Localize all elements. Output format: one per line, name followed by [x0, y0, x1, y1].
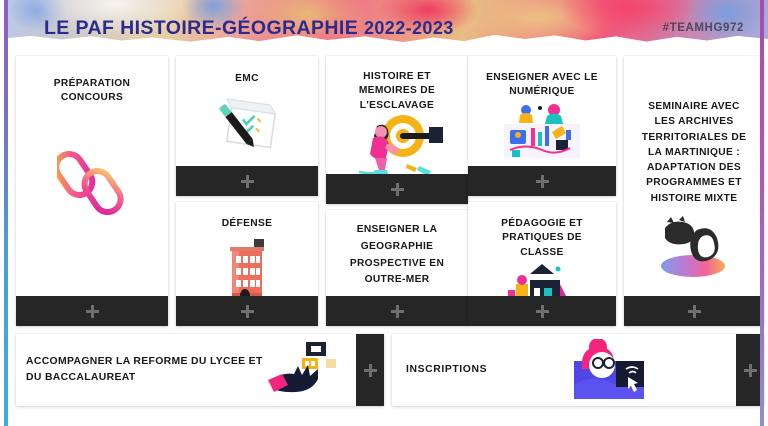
plus-icon [241, 175, 254, 188]
plus-icon [241, 305, 254, 318]
card-preparation-concours[interactable]: PRÉPARATION CONCOURS [16, 56, 168, 326]
poster-page: LE PAF HISTOIRE-GÉOGRAPHIE 2022-2023 #TE… [0, 0, 768, 426]
card-body: DÉFENSE [176, 202, 318, 296]
card-body: SEMINAIRE AVEC LES ARCHIVES TERRITORIALE… [624, 56, 764, 296]
hand-screens-icon [264, 340, 346, 400]
card-accompagner-reforme-lycee[interactable]: ACCOMPAGNER LA REFORME DU LYCEE ET DU BA… [16, 334, 384, 406]
cards-board: PRÉPARATION CONCOURS [8, 52, 768, 426]
card-add-button[interactable] [176, 166, 318, 196]
card-title: HISTOIRE ET MEMOIRES DE L'ESCLAVAGE [334, 65, 460, 113]
card-add-button[interactable] [326, 296, 468, 326]
plus-icon [688, 305, 701, 318]
card-title: SEMINAIRE AVEC LES ARCHIVES TERRITORIALE… [632, 65, 756, 206]
card-add-button[interactable] [16, 296, 168, 326]
plus-icon [364, 364, 377, 377]
page-title-years: 2022-2023 [364, 18, 454, 38]
card-add-button[interactable] [624, 296, 764, 326]
card-body: ENSEIGNER AVEC LE NUMÉRIQUE [468, 56, 616, 166]
card-inscriptions[interactable]: INSCRIPTIONS [392, 334, 764, 406]
card-pedagogie-pratiques-classe[interactable]: PÉDAGOGIE ET PRATIQUES DE CLASSE [468, 202, 616, 326]
card-add-button[interactable] [468, 166, 616, 196]
card-add-button[interactable] [356, 334, 384, 406]
plus-icon [744, 364, 757, 377]
card-add-button[interactable] [468, 296, 616, 326]
card-enseigner-avec-le-numerique[interactable]: ENSEIGNER AVEC LE NUMÉRIQUE [468, 56, 616, 196]
building-icon [216, 235, 278, 296]
card-body: PRÉPARATION CONCOURS [16, 56, 168, 296]
hashtag-label: #TEAMHG972 [663, 22, 744, 34]
plus-icon [536, 305, 549, 318]
card-title: INSCRIPTIONS [406, 362, 487, 378]
card-emc[interactable]: EMC [176, 56, 318, 196]
card-defense[interactable]: DÉFENSE [176, 202, 318, 326]
plus-icon [391, 305, 404, 318]
chain-links-icon [57, 140, 127, 226]
card-add-button[interactable] [176, 296, 318, 326]
card-body: INSCRIPTIONS [392, 334, 736, 406]
card-title: ACCOMPAGNER LA REFORME DU LYCEE ET DU BA… [26, 354, 264, 385]
card-enseigner-geographie-prospective[interactable]: ENSEIGNER LA GEOGRAPHIE PROSPECTIVE EN O… [326, 210, 468, 326]
archive-silhouette-icon [651, 216, 737, 280]
card-body: ENSEIGNER LA GEOGRAPHIE PROSPECTIVE EN O… [326, 210, 468, 296]
card-body: EMC [176, 56, 318, 166]
poster-header: LE PAF HISTOIRE-GÉOGRAPHIE 2022-2023 #TE… [8, 0, 768, 52]
card-title: EMC [227, 65, 267, 86]
plus-icon [536, 175, 549, 188]
card-title: PÉDAGOGIE ET PRATIQUES DE CLASSE [476, 211, 608, 260]
person-target-icon [337, 114, 457, 174]
page-title: LE PAF HISTOIRE-GÉOGRAPHIE 2022-2023 [44, 17, 454, 40]
card-body: PÉDAGOGIE ET PRATIQUES DE CLASSE [468, 202, 616, 296]
card-histoire-memoires-esclavage[interactable]: HISTOIRE ET MEMOIRES DE L'ESCLAVAGE [326, 56, 468, 204]
card-title: ENSEIGNER AVEC LE NUMÉRIQUE [476, 65, 608, 100]
card-body: ACCOMPAGNER LA REFORME DU LYCEE ET DU BA… [16, 334, 356, 406]
card-title: ENSEIGNER LA GEOGRAPHIE PROSPECTIVE EN O… [334, 222, 460, 288]
card-title: PRÉPARATION CONCOURS [24, 65, 160, 106]
card-body: HISTOIRE ET MEMOIRES DE L'ESCLAVAGE [326, 56, 468, 174]
checklist-pen-icon [211, 96, 283, 158]
classroom-abstract-icon [500, 262, 584, 296]
person-laptop-cursor-icon [572, 339, 646, 401]
left-gradient-rail [4, 0, 8, 426]
plus-icon [391, 183, 404, 196]
card-seminaire-archives-martinique[interactable]: SEMINAIRE AVEC LES ARCHIVES TERRITORIALE… [624, 56, 764, 326]
plus-icon [86, 305, 99, 318]
page-title-main: LE PAF HISTOIRE-GÉOGRAPHIE [44, 17, 358, 39]
right-gradient-rail [760, 0, 764, 426]
card-title: DÉFENSE [214, 211, 281, 231]
collaboration-devices-icon [490, 102, 594, 164]
card-add-button[interactable] [326, 174, 468, 204]
